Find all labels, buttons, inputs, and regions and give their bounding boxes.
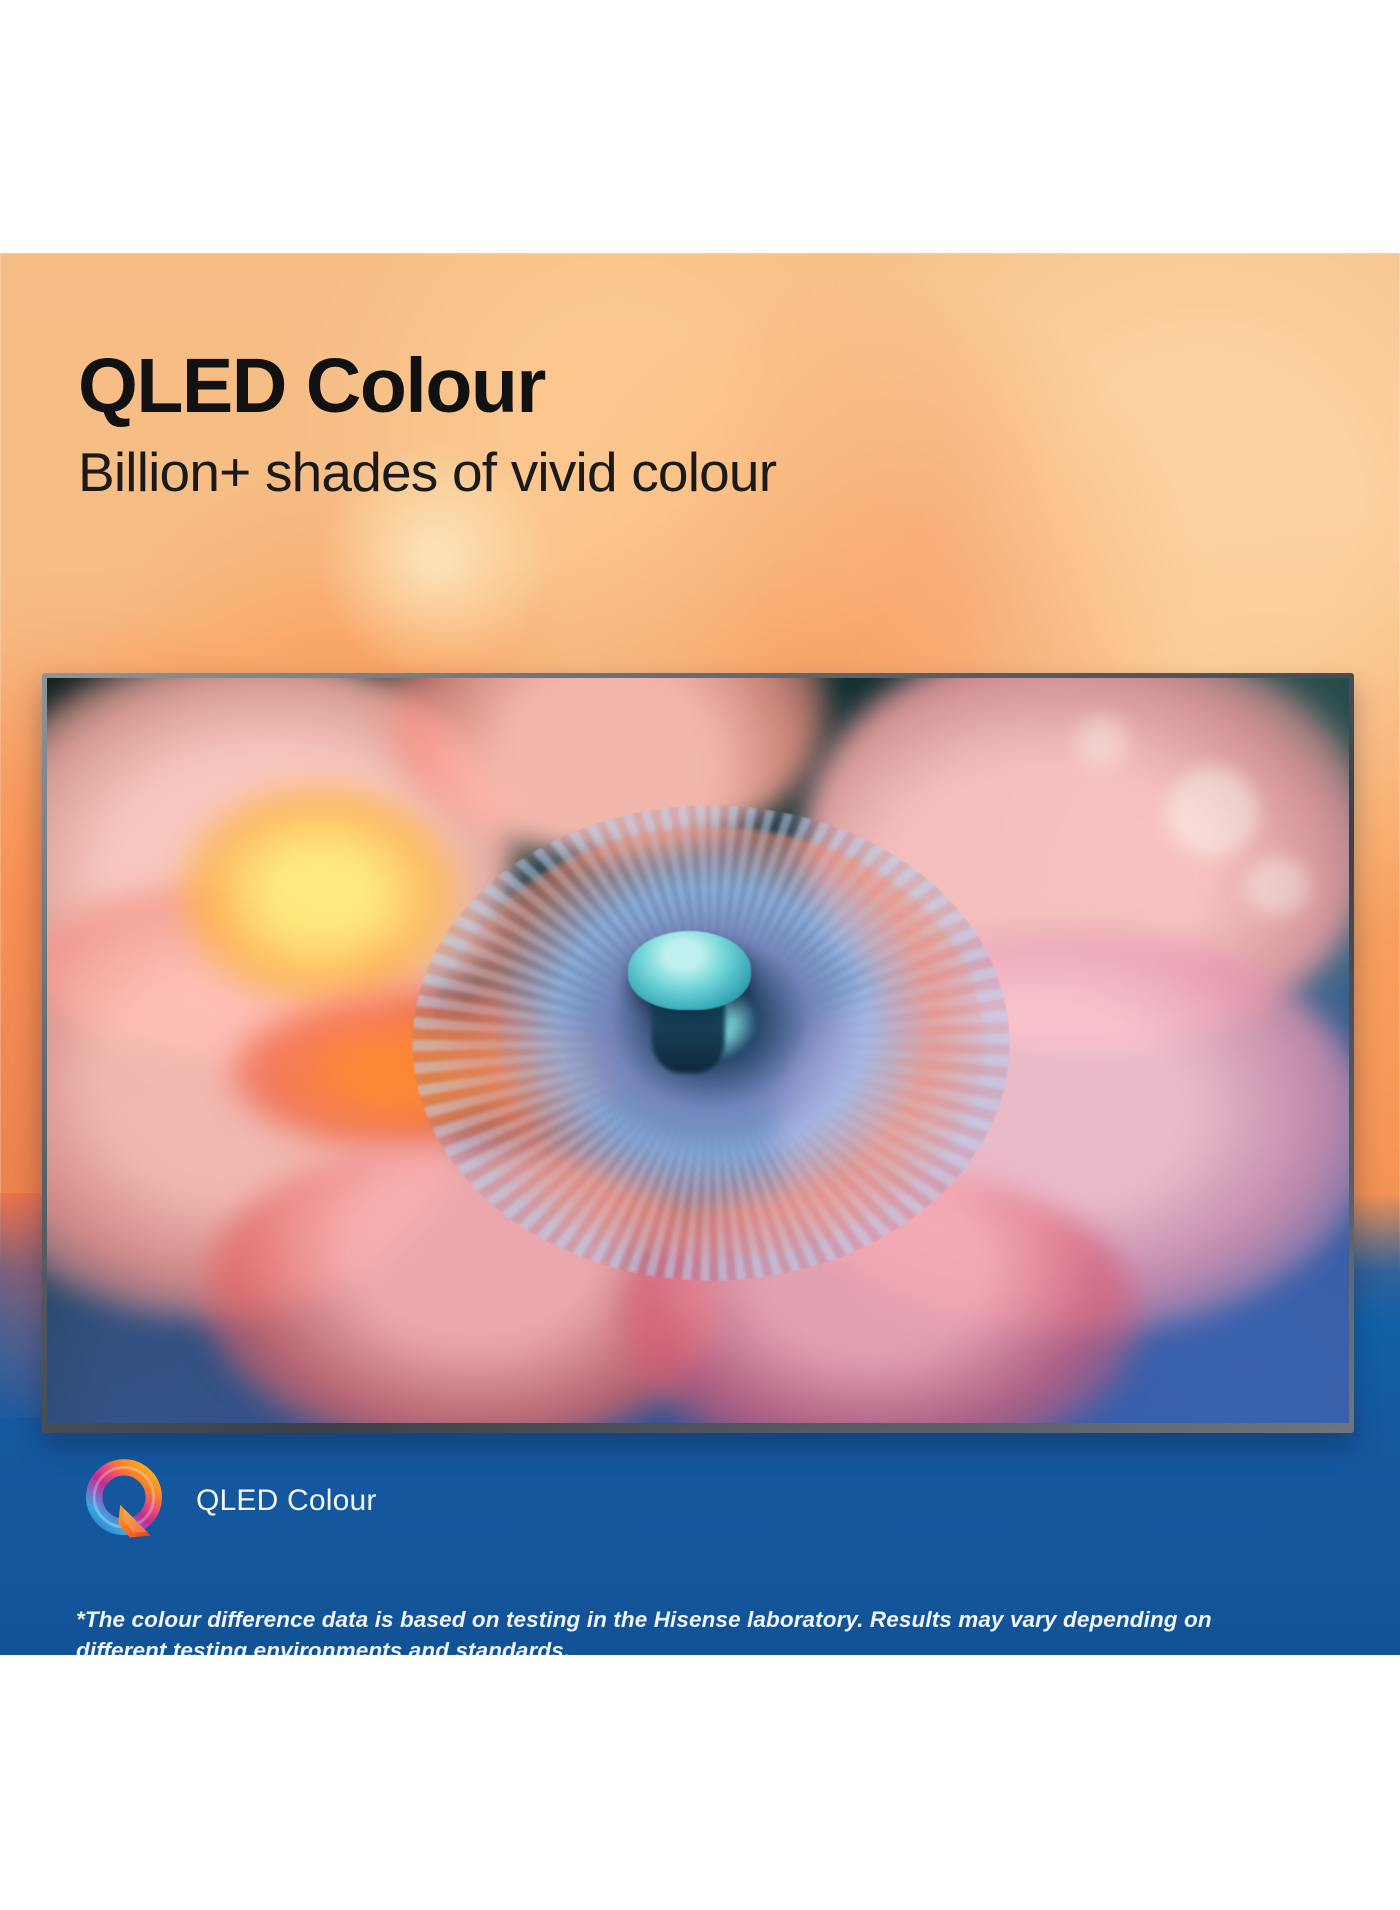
page-root: QLED Colour Billion+ shades of vivid col…	[0, 0, 1400, 1910]
headline-block: QLED Colour Billion+ shades of vivid col…	[78, 348, 776, 500]
petal-yellow-glow	[177, 782, 463, 1006]
bokeh-highlight-2	[1245, 857, 1310, 917]
promo-panel: QLED Colour Billion+ shades of vivid col…	[0, 253, 1400, 1655]
flower-teal-capsule	[628, 931, 752, 1009]
page-title: QLED Colour	[78, 348, 776, 425]
tv-device	[42, 673, 1354, 1433]
tv-screen	[47, 678, 1349, 1423]
bokeh-highlight-1	[1167, 767, 1258, 856]
page-subtitle: Billion+ shades of vivid colour	[78, 445, 776, 500]
bokeh-highlight-3	[1076, 715, 1128, 767]
qled-badge: QLED Colour	[76, 1453, 377, 1549]
flower-photo	[47, 678, 1349, 1423]
qled-q-logo-icon	[76, 1453, 172, 1549]
qled-badge-label: QLED Colour	[196, 1484, 377, 1518]
footnote-text: *The colour difference data is based on …	[76, 1604, 1301, 1656]
